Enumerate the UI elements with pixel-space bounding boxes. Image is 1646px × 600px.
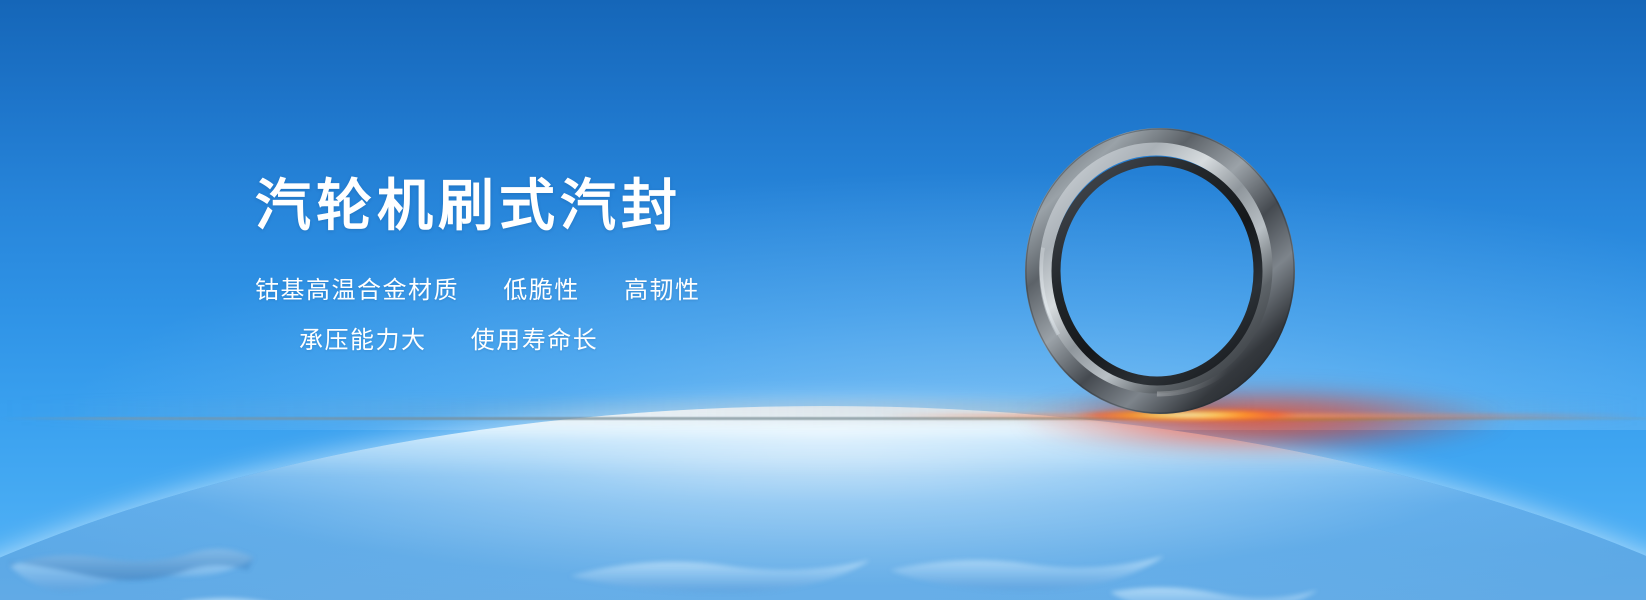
product-seal-ring [1036,138,1284,404]
banner-headline: 汽轮机刷式汽封 [255,176,682,238]
subtitle-2-part-2: 使用寿命长 [471,326,599,354]
sky-glow [0,0,1646,430]
subtitle-1-part-2: 低脆性 [503,276,580,304]
subtitle-1-part-3: 高韧性 [624,276,701,304]
subtitle-1-part-1: 钴基高温合金材质 [255,276,459,304]
banner-subtitle-line-1: 钴基高温合金材质 低脆性 高韧性 [255,270,701,305]
banner-subtitle-line-2: 承压能力大 使用寿命长 [299,320,598,355]
subtitle-2-part-1: 承压能力大 [299,326,427,354]
hero-banner: 汽轮机刷式汽封 钴基高温合金材质 低脆性 高韧性 承压能力大 使用寿命长 [0,0,1646,600]
